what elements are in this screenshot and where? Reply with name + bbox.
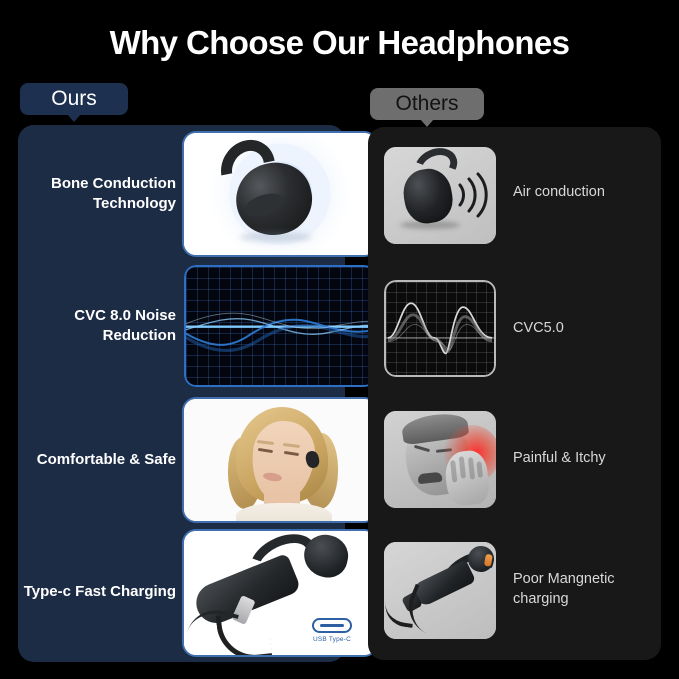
ours-row-bone-conduction: Bone Conduction Technology [18,127,345,261]
earcup-shadow-shape [400,221,460,229]
sweater-shape [236,503,332,521]
others-panel: Air conduction CVC5.0 [368,127,661,660]
magnetic-charging-cable-image [384,542,496,639]
ours-label-noise-reduction: CVC 8.0 Noise Reduction [18,306,190,346]
blue-waveform-grid-image [184,265,376,387]
charging-cord-secondary-shape [400,584,464,639]
gray-waveform-grid-image [384,280,496,377]
ours-panel: Bone Conduction Technology CVC 8.0 Noise… [18,125,345,662]
page-title: Why Choose Our Headphones [0,24,679,62]
ours-label-bone-conduction: Bone Conduction Technology [18,174,190,214]
usb-type-c-badge: USB Type-C [300,618,364,643]
bone-conduction-headphone-image [184,133,376,255]
ours-row-comfortable: Comfortable & Safe [18,393,345,527]
tab-ours-label: Ours [51,87,97,111]
ours-label-type-c-charging: Type-c Fast Charging [18,582,190,602]
usb-c-port-icon [312,618,352,633]
headphone-shadow-shape [240,232,312,242]
ours-row-type-c-charging: Type-c Fast Charging USB Type-C [18,525,345,659]
ours-label-comfortable: Comfortable & Safe [18,450,190,470]
tab-others[interactable]: Others [370,88,484,120]
others-row-air-conduction: Air conduction [368,131,661,264]
tab-others-label: Others [395,92,458,116]
gray-waveform-svg [386,282,494,376]
man-in-ear-pain-image [384,411,496,508]
tab-ours[interactable]: Ours [20,83,128,115]
usb-type-c-charging-image: USB Type-C [184,531,376,655]
gray-headphone-soundwave-image [384,147,496,244]
others-label-cvc5: CVC5.0 [513,319,655,339]
woman-wearing-headphone-image [184,399,376,521]
others-label-magnetic-charging: Poor Mangnetic charging [513,570,655,609]
others-row-cvc5: CVC5.0 [368,264,661,397]
others-label-air-conduction: Air conduction [513,183,655,203]
others-row-magnetic-charging: Poor Mangnetic charging [368,526,661,659]
ours-row-noise-reduction: CVC 8.0 Noise Reduction [18,259,345,393]
others-label-painful-itchy: Painful & Itchy [513,449,655,469]
blue-waveform-svg [186,267,374,386]
others-row-painful-itchy: Painful & Itchy [368,395,661,528]
sound-wave-icon [456,171,488,219]
usb-type-c-badge-label: USB Type-C [313,636,351,643]
